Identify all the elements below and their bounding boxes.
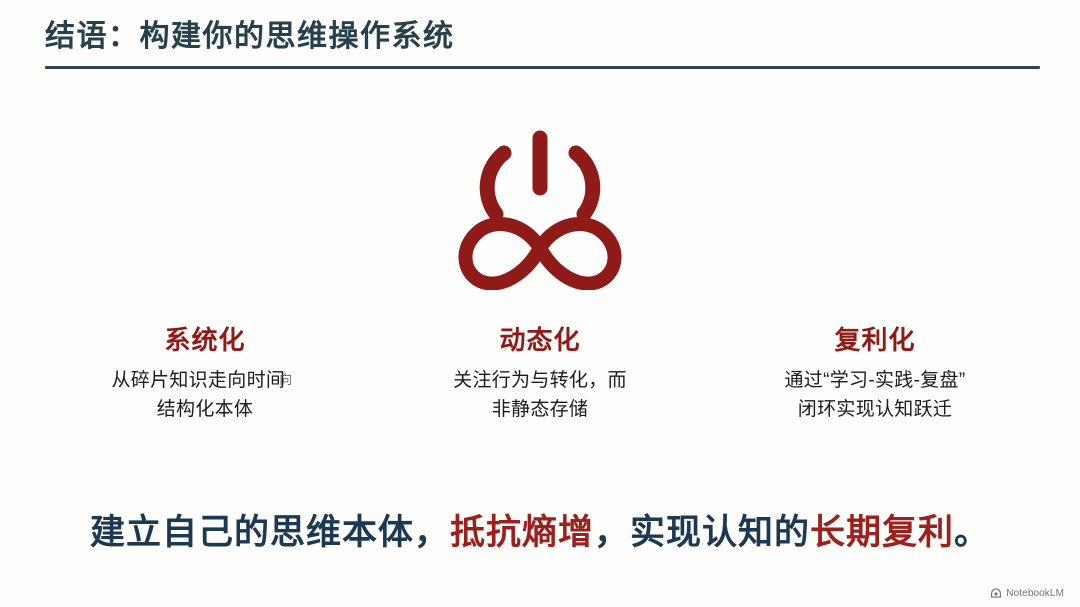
pillar-description: 从碎片知识走向时间向 结构化本体 bbox=[45, 367, 365, 425]
pillar-desc-line1: 关注行为与转化，而 bbox=[380, 367, 700, 396]
pillar-desc-line2: 非静态存储 bbox=[380, 396, 700, 425]
watermark-label: NotebookLM bbox=[1006, 588, 1064, 599]
notebooklm-watermark: NotebookLM bbox=[990, 587, 1064, 599]
title-divider bbox=[45, 66, 1040, 69]
pillar-compounding: 复利化 通过“学习-实践-复盘” 闭环实现认知跃迁 bbox=[715, 325, 1035, 425]
statement-highlight-2: 长期复利 bbox=[810, 513, 954, 552]
pillar-desc-line1: 通过“学习-实践-复盘” bbox=[715, 367, 1035, 396]
pillar-dynamism: 动态化 关注行为与转化，而 非静态存储 bbox=[380, 325, 700, 425]
power-infinity-icon bbox=[452, 126, 628, 290]
pillar-title: 系统化 bbox=[45, 325, 365, 356]
hero-icon-container bbox=[0, 126, 1080, 290]
overlap-artifact-glyph: 向 bbox=[279, 373, 292, 386]
statement-part-3: 。 bbox=[954, 513, 990, 552]
pillar-desc-line2: 结构化本体 bbox=[45, 396, 365, 425]
pillar-description: 通过“学习-实践-复盘” 闭环实现认知跃迁 bbox=[715, 367, 1035, 425]
pillar-desc-line2: 闭环实现认知跃迁 bbox=[715, 396, 1035, 425]
page-title: 结语：构建你的思维操作系统 bbox=[45, 18, 1040, 56]
slide-root: 结语：构建你的思维操作系统 系统化 从碎片知识走向时间向 bbox=[0, 0, 1080, 607]
notebooklm-logo-icon bbox=[990, 587, 1002, 599]
pillar-systematization: 系统化 从碎片知识走向时间向 结构化本体 bbox=[45, 325, 365, 425]
pillar-title: 动态化 bbox=[380, 325, 700, 356]
statement-part-2: ，实现认知的 bbox=[594, 513, 810, 552]
pillar-title: 复利化 bbox=[715, 325, 1035, 356]
statement-highlight-1: 抵抗熵增 bbox=[450, 513, 594, 552]
statement-part-1: 建立自己的思维本体， bbox=[90, 513, 450, 552]
pillars-row: 系统化 从碎片知识走向时间向 结构化本体 动态化 关注行为与转化，而 非静态存储… bbox=[45, 325, 1035, 425]
pillar-desc-line1: 从碎片知识走向时间 bbox=[111, 370, 285, 391]
closing-statement: 建立自己的思维本体，抵抗熵增，实现认知的长期复利。 bbox=[0, 512, 1080, 554]
slide-header: 结语：构建你的思维操作系统 bbox=[45, 18, 1040, 69]
pillar-description: 关注行为与转化，而 非静态存储 bbox=[380, 367, 700, 425]
